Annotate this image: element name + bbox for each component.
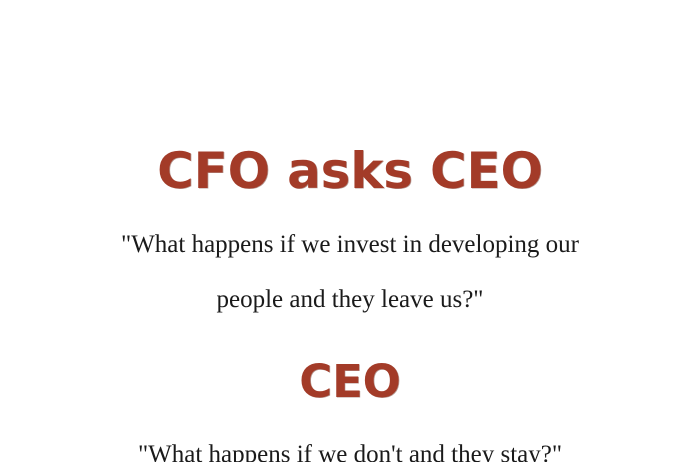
cfo-heading: CFO asks CEO — [157, 146, 543, 196]
cfo-quote-line-2: people and they leave us?" — [216, 287, 483, 312]
ceo-heading: CEO — [299, 359, 400, 404]
spacer — [350, 196, 351, 232]
cfo-quote-line-1: "What happens if we invest in developing… — [121, 232, 579, 257]
spacer — [350, 404, 351, 442]
spacer — [350, 312, 351, 359]
spacer — [350, 257, 351, 287]
meme-image: CFO asks CEO "What happens if we invest … — [0, 0, 700, 462]
meme-content: CFO asks CEO "What happens if we invest … — [0, 0, 700, 462]
ceo-quote-line-1: "What happens if we don't and they stay?… — [138, 442, 562, 462]
